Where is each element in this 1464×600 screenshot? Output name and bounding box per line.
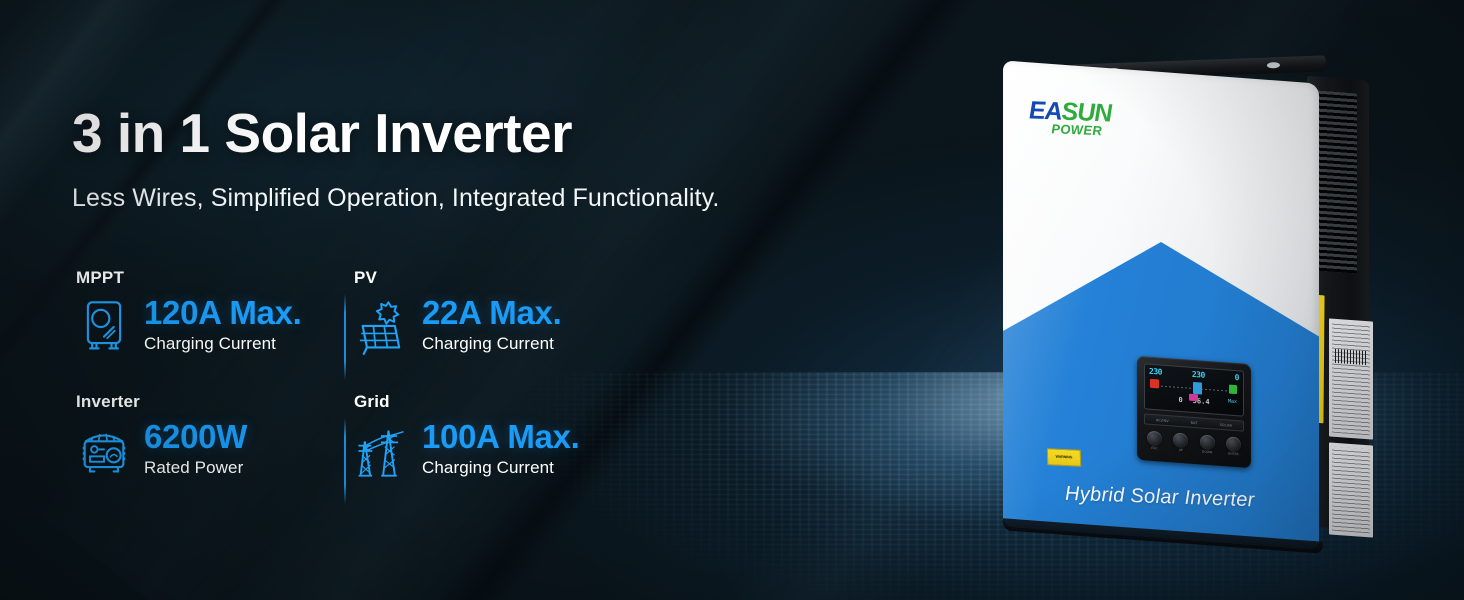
feature-label-mppt: MPPT (76, 268, 336, 288)
brand-logo: EA SUN POWER (1028, 98, 1112, 138)
page-title: 3 in 1 Solar Inverter (72, 104, 832, 162)
lcd-control-panel[interactable]: 230 230 0 0 56.4 Max AC/INV (1137, 356, 1251, 468)
product-spec-label-2 (1329, 442, 1373, 537)
feature-grid-power: Grid (354, 392, 632, 516)
lcd-battery-icon (1229, 385, 1237, 395)
page-subtitle: Less Wires, Simplified Operation, Integr… (72, 184, 832, 213)
lcd-load-icon (1189, 394, 1198, 402)
bracket-hole-right (1267, 62, 1280, 68)
feature-desc-pv: Charging Current (422, 334, 561, 354)
lcd-button-up-label: UP (1172, 448, 1189, 453)
feature-value-inverter: 6200W (144, 420, 247, 453)
product-barcode (1335, 349, 1367, 365)
lcd-button-down[interactable]: DOWN (1199, 434, 1216, 455)
lcd-button-down-circle[interactable] (1200, 434, 1215, 450)
lcd-button-enter-circle[interactable] (1226, 436, 1241, 452)
lcd-status-0: AC/INV (1156, 418, 1169, 423)
feature-label-inverter: Inverter (76, 392, 336, 412)
product-spec-label-1 (1329, 318, 1373, 439)
feature-desc-grid: Charging Current (422, 458, 580, 478)
lcd-tag: Max (1228, 398, 1237, 405)
product-side-vents (1317, 91, 1357, 274)
lcd-button-up[interactable]: UP (1172, 432, 1189, 453)
power-tower-icon (354, 418, 410, 480)
inverter-generator-icon (76, 418, 132, 480)
lcd-screen: 230 230 0 0 56.4 Max (1144, 363, 1244, 416)
feature-divider-2 (344, 418, 346, 504)
mppt-controller-icon (76, 294, 132, 356)
lcd-button-row: ESC UP DOWN ENTER (1144, 430, 1244, 457)
lcd-value-output-voltage: 230 (1192, 371, 1205, 380)
feature-value-mppt: 120A Max. (144, 296, 302, 329)
product-image: EA SUN POWER 230 230 0 (985, 52, 1405, 542)
lcd-grid-icon (1150, 379, 1159, 389)
lcd-value-input-voltage: 230 (1149, 368, 1162, 377)
lcd-button-up-circle[interactable] (1173, 432, 1188, 448)
solar-panel-icon (354, 294, 410, 356)
feature-value-grid: 100A Max. (422, 420, 580, 453)
lcd-button-enter-label: ENTER (1225, 452, 1242, 457)
feature-grid: MPPT 120A Max. Charg (76, 268, 632, 516)
product-warning-sticker-text: WARNING (1056, 455, 1073, 459)
product-banner: 3 in 1 Solar Inverter Less Wires, Simpli… (0, 0, 1464, 600)
lcd-status-1: BAT (1191, 420, 1198, 425)
lcd-button-esc-label: ESC (1146, 446, 1163, 451)
lcd-value-pv: 0 (1178, 397, 1182, 404)
lcd-button-enter[interactable]: ENTER (1225, 436, 1242, 457)
feature-value-pv: 22A Max. (422, 296, 561, 329)
headline-block: 3 in 1 Solar Inverter Less Wires, Simpli… (72, 104, 832, 213)
product-warning-sticker: WARNING (1047, 448, 1081, 467)
lcd-value-load: 0 (1235, 374, 1239, 382)
lcd-button-esc-circle[interactable] (1147, 431, 1162, 447)
feature-inverter: Inverter (76, 392, 354, 516)
feature-divider-1 (344, 294, 346, 380)
feature-desc-inverter: Rated Power (144, 458, 247, 478)
feature-label-grid: Grid (354, 392, 614, 412)
feature-desc-mppt: Charging Current (144, 334, 302, 354)
lcd-button-esc[interactable]: ESC (1146, 430, 1163, 451)
feature-pv: PV 22A Max. Charging Current (354, 268, 632, 392)
lcd-button-down-label: DOWN (1199, 450, 1216, 455)
lcd-inverter-icon (1193, 382, 1202, 395)
lcd-status-2: SOLAR (1220, 422, 1232, 427)
lcd-status-strip: AC/INV BAT SOLAR (1144, 413, 1244, 431)
feature-label-pv: PV (354, 268, 614, 288)
feature-mppt: MPPT 120A Max. Charg (76, 268, 354, 392)
